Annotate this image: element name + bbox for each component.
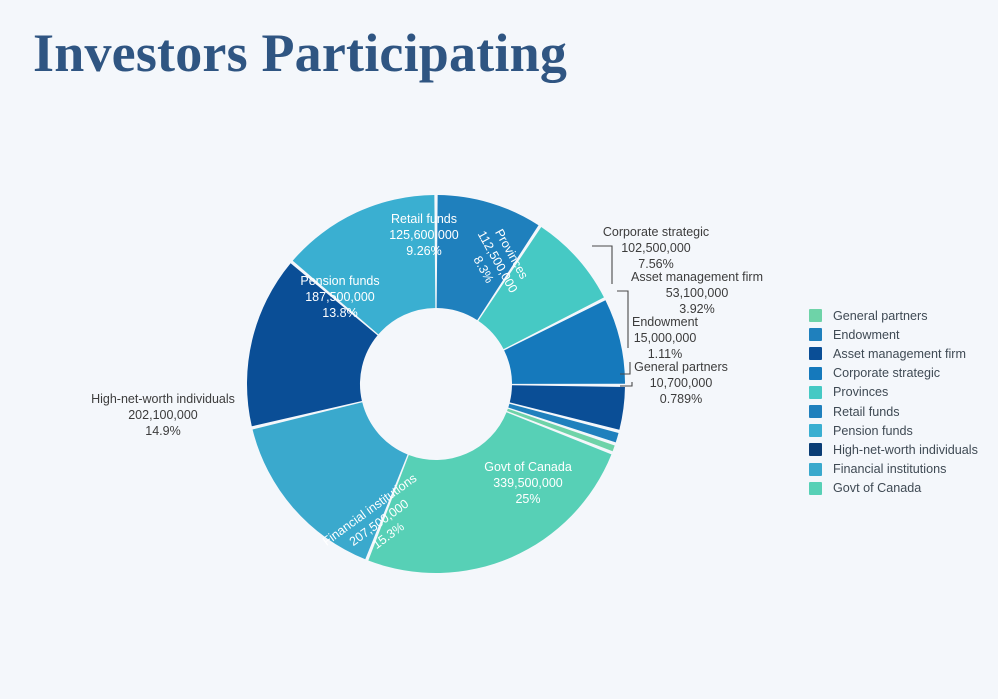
legend-swatch-icon	[809, 482, 822, 495]
slice-label-name: Endowment	[632, 315, 699, 329]
slice-label: Endowment15,000,0001.11%	[632, 315, 699, 361]
legend-item[interactable]: Provinces	[809, 383, 994, 402]
slice-label-name: Retail funds	[391, 212, 457, 226]
legend-swatch-icon	[809, 424, 822, 437]
slice-label-percent: 14.9%	[145, 424, 180, 438]
leader-line	[592, 246, 612, 284]
legend-item-label: Provinces	[833, 385, 888, 399]
slice-label-name: General partners	[634, 360, 728, 374]
legend-item-label: Asset management firm	[833, 347, 966, 361]
legend-item[interactable]: Endowment	[809, 325, 994, 344]
legend-item-label: High-net-worth individuals	[833, 443, 978, 457]
legend-swatch-icon	[809, 386, 822, 399]
slice-label: High-net-worth individuals202,100,00014.…	[91, 392, 235, 438]
legend-swatch-icon	[809, 309, 822, 322]
legend-item-label: Endowment	[833, 328, 900, 342]
slice-label-value: 187,500,000	[305, 290, 375, 304]
slice-label-value: 102,500,000	[621, 241, 691, 255]
legend-item[interactable]: Asset management firm	[809, 344, 994, 363]
legend-item-label: Financial institutions	[833, 462, 946, 476]
legend-swatch-icon	[809, 367, 822, 380]
legend-item[interactable]: Retail funds	[809, 402, 994, 421]
legend-item[interactable]: High-net-worth individuals	[809, 440, 994, 459]
slice-label-percent: 13.8%	[322, 306, 357, 320]
slice-label-percent: 7.56%	[638, 257, 673, 271]
slice-label-name: Corporate strategic	[603, 225, 709, 239]
legend-swatch-icon	[809, 405, 822, 418]
slice-label-name: Asset management firm	[631, 270, 763, 284]
slice-label-percent: 25%	[515, 492, 540, 506]
legend-item[interactable]: Pension funds	[809, 421, 994, 440]
legend-item[interactable]: Govt of Canada	[809, 479, 994, 498]
slice-label-percent: 9.26%	[406, 244, 441, 258]
slice-label-percent: 0.789%	[660, 392, 702, 406]
slice-label-percent: 3.92%	[679, 302, 714, 316]
legend-swatch-icon	[809, 347, 822, 360]
legend-item-label: Retail funds	[833, 405, 900, 419]
slice-label-value: 125,600,000	[389, 228, 459, 242]
slice-label-name: Govt of Canada	[484, 460, 572, 474]
legend-swatch-icon	[809, 443, 822, 456]
slice-label-name: Pension funds	[300, 274, 379, 288]
slice-label: Asset management firm53,100,0003.92%	[631, 270, 763, 316]
legend-item[interactable]: Financial institutions	[809, 460, 994, 479]
slice-label-value: 53,100,000	[666, 286, 729, 300]
slice-label-percent: 1.11%	[648, 347, 683, 361]
legend-item[interactable]: General partners	[809, 306, 994, 325]
slice-label-value: 15,000,000	[634, 331, 697, 345]
slice-label: General partners10,700,0000.789%	[634, 360, 728, 406]
legend-item-label: General partners	[833, 309, 928, 323]
legend-item-label: Pension funds	[833, 424, 913, 438]
legend-item-label: Govt of Canada	[833, 481, 921, 495]
chart-legend: General partnersEndowmentAsset managemen…	[809, 306, 994, 498]
slice-label-value: 339,500,000	[493, 476, 563, 490]
legend-swatch-icon	[809, 463, 822, 476]
slice-label-name: High-net-worth individuals	[91, 392, 235, 406]
legend-swatch-icon	[809, 328, 822, 341]
slice-label: Corporate strategic102,500,0007.56%	[603, 225, 709, 271]
slice-label-value: 202,100,000	[128, 408, 198, 422]
slice-label-value: 10,700,000	[650, 376, 713, 390]
legend-item[interactable]: Corporate strategic	[809, 364, 994, 383]
legend-item-label: Corporate strategic	[833, 366, 940, 380]
